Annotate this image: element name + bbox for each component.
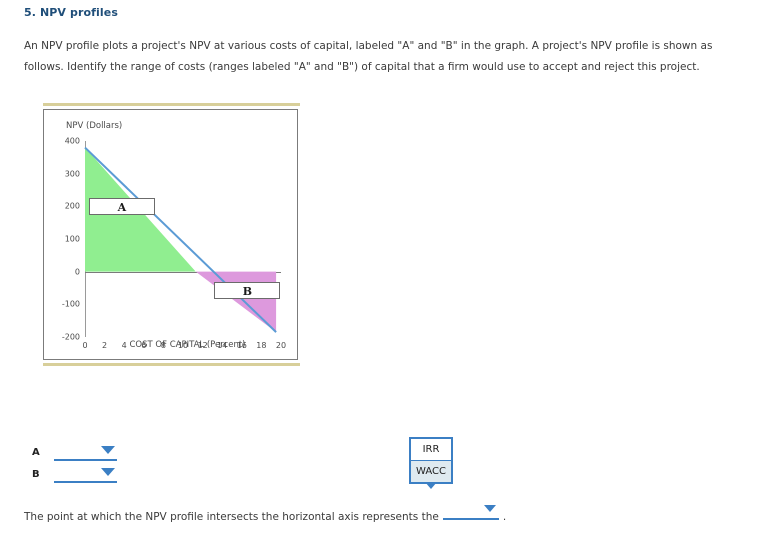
- region-label-a: A: [89, 198, 155, 215]
- final-text-before: The point at which the NPV profile inter…: [24, 511, 439, 523]
- chevron-down-icon[interactable]: [484, 505, 496, 512]
- answer-dropdown-b[interactable]: [54, 466, 117, 483]
- page-title: 5. NPV profiles: [24, 6, 118, 19]
- region-label-b: B: [214, 282, 280, 299]
- answer-dropdown-a[interactable]: [54, 444, 117, 461]
- open-dropdown-menu[interactable]: IRR WACC: [409, 437, 453, 484]
- y-tick-label: 100: [50, 235, 80, 244]
- answer-label-a: A: [32, 447, 54, 458]
- dropdown-option-irr[interactable]: IRR: [411, 439, 451, 460]
- y-tick-label: -100: [50, 300, 80, 309]
- chevron-down-icon[interactable]: [101, 446, 115, 454]
- y-tick-label: 300: [50, 169, 80, 178]
- dropdown-tail-icon: [425, 482, 437, 489]
- chart-block: NPV (Dollars) A B 4003002001000-100-2000…: [43, 103, 300, 366]
- answer-row-a: A: [32, 444, 117, 461]
- plot-area: A B 4003002001000-100-200024681012141618…: [85, 141, 281, 337]
- gold-divider-top: [43, 103, 300, 106]
- npv-profile-chart: NPV (Dollars) A B 4003002001000-100-2000…: [43, 109, 298, 360]
- gold-divider-bottom: [43, 363, 300, 366]
- final-answer-dropdown[interactable]: [443, 505, 499, 520]
- y-axis-title: NPV (Dollars): [66, 121, 122, 131]
- y-tick-label: 400: [50, 137, 80, 146]
- x-axis-title: COST OF CAPITAL (Percent): [44, 340, 297, 350]
- answer-row-b: B: [32, 466, 117, 483]
- y-tick-label: 200: [50, 202, 80, 211]
- final-statement: The point at which the NPV profile inter…: [24, 505, 506, 523]
- answer-label-b: B: [32, 469, 54, 480]
- dropdown-option-wacc[interactable]: WACC: [411, 460, 451, 482]
- chevron-down-icon[interactable]: [101, 468, 115, 476]
- y-tick-label: 0: [50, 267, 80, 276]
- chart-svg: [85, 141, 281, 337]
- final-text-after: .: [503, 511, 506, 523]
- question-prompt: An NPV profile plots a project's NPV at …: [24, 36, 740, 78]
